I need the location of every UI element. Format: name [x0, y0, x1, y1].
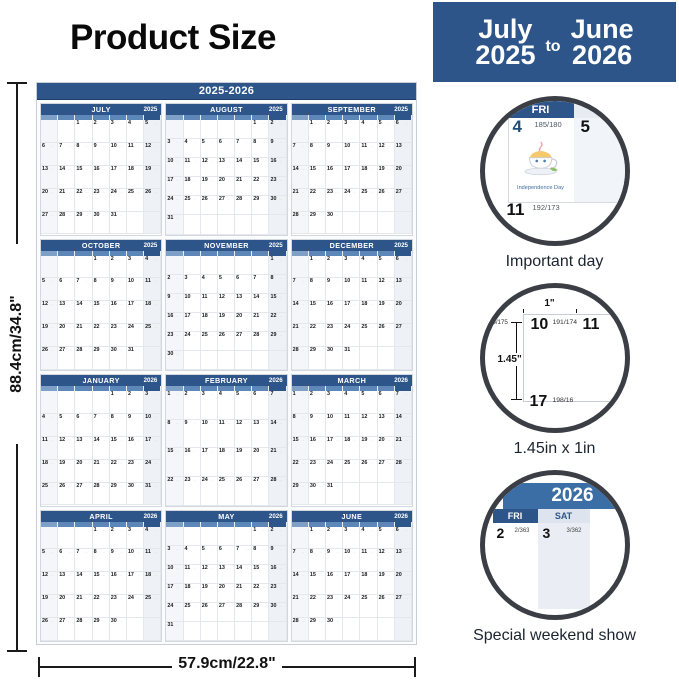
day-cell: 5··· — [378, 256, 395, 279]
julian-count: ··· — [51, 167, 54, 171]
julian-prev: 181 — [480, 120, 488, 129]
day-number: 9 — [94, 143, 97, 149]
day-number: 16 — [327, 572, 333, 578]
saturday-column — [538, 509, 590, 609]
feature-caption-cell-size: 1.45in x 1in — [430, 440, 679, 458]
julian-lower: 198/16 — [553, 397, 574, 404]
julian-count: ··· — [194, 314, 197, 318]
julian-count: ··· — [245, 478, 248, 482]
dow-header-fri: FRI — [508, 101, 574, 118]
day-number: 22 — [253, 584, 259, 590]
julian-count: ··· — [120, 348, 123, 352]
day-cell: 12··· — [41, 572, 58, 595]
day-cell: 28··· — [58, 212, 75, 235]
day-cell: 12··· — [201, 565, 218, 584]
day-number: 20 — [59, 324, 65, 330]
day-number: 14 — [76, 572, 82, 578]
julian-count: ··· — [353, 438, 356, 442]
day-number: 23 — [327, 595, 333, 601]
day-cell: 26··· — [360, 460, 377, 483]
edge-column — [590, 509, 620, 609]
julian-count: ··· — [336, 257, 339, 261]
day-number: 11 — [361, 549, 367, 555]
day-number: 29 — [253, 196, 259, 202]
day-cell: 20··· — [218, 177, 235, 196]
day-cell: 9··· — [269, 546, 286, 565]
month-year: 2026 — [394, 377, 408, 384]
day-number: 27 — [379, 460, 385, 466]
day-cell: 25··· — [184, 603, 201, 622]
day-number: 13 — [76, 437, 82, 443]
day-number: 29 — [76, 212, 82, 218]
julian-count: ··· — [176, 392, 179, 396]
julian-friday: 2/363 — [515, 528, 530, 534]
day-cell: 25··· — [201, 332, 218, 351]
julian-count: ··· — [262, 178, 265, 182]
day-cell: 12··· — [218, 294, 235, 313]
day-cell: 1··· — [269, 256, 286, 275]
day-number: 21 — [76, 595, 82, 601]
julian-count: ··· — [85, 348, 88, 352]
julian-count: ··· — [245, 585, 248, 589]
day-number: 30 — [310, 483, 316, 489]
day-cell: 3··· — [184, 275, 201, 294]
day-number: 6 — [219, 546, 222, 552]
julian-count: ··· — [228, 295, 231, 299]
julian-count: ··· — [245, 449, 248, 453]
julian-count: ··· — [279, 547, 282, 551]
day-cell: 3··· — [166, 546, 183, 565]
day-cell: 21··· — [235, 584, 252, 603]
day-cell: 27··· — [395, 189, 412, 212]
day-cell: 10··· — [127, 278, 144, 301]
day-cell — [343, 212, 360, 235]
day-number: 26 — [361, 460, 367, 466]
day-number: 4 — [202, 275, 205, 281]
day-cell — [58, 256, 75, 279]
day-number: 9 — [270, 546, 273, 552]
day-cell: 24··· — [144, 460, 161, 483]
day-number: 29 — [310, 347, 316, 353]
day-number: 24 — [145, 460, 151, 466]
day-cell: 8··· — [75, 143, 92, 166]
day-number: 21 — [94, 460, 100, 466]
day-cell: 12··· — [378, 143, 395, 166]
day-cell — [218, 215, 235, 234]
magnifier-circle-important-day: FRI 181 4 185/180 5 Independence Day 11 — [480, 96, 630, 246]
julian-count: ··· — [302, 348, 305, 352]
julian-count: ··· — [154, 257, 157, 261]
month-block: DECEMBER20251···2···3···4···5···6···7···… — [291, 239, 413, 372]
julian-count: ··· — [103, 550, 106, 554]
day-number: 25 — [185, 603, 191, 609]
julian-count: ··· — [51, 573, 54, 577]
width-label-text: 57.9cm/22.8" — [172, 655, 281, 672]
day-number: 3 — [344, 120, 347, 126]
month-year: 2026 — [144, 513, 158, 520]
day-number: 30 — [327, 347, 333, 353]
julian-count: ··· — [302, 415, 305, 419]
julian-count: ··· — [120, 438, 123, 442]
julian-count: ··· — [120, 528, 123, 532]
julian-count: ··· — [405, 325, 408, 329]
julian-count: ··· — [120, 121, 123, 125]
julian-count: ··· — [51, 550, 54, 554]
julian-count: ··· — [279, 159, 282, 163]
julian-count: ··· — [85, 461, 88, 465]
day-cell: 31··· — [326, 483, 343, 506]
day-cell: 13··· — [378, 414, 395, 437]
day-number: 5 — [219, 275, 222, 281]
day-number: 31 — [111, 212, 117, 218]
day-cell: 10··· — [166, 565, 183, 584]
day-number: 18 — [219, 448, 225, 454]
day-number: 18 — [185, 584, 191, 590]
day-number: 14 — [236, 565, 242, 571]
day-cell: 2··· — [93, 120, 110, 143]
julian-count: ··· — [336, 167, 339, 171]
julian-count: ··· — [353, 348, 356, 352]
day-grid: 1···2···3···4···5···6···7···8···9···10··… — [41, 527, 161, 642]
day-number: 11 — [219, 420, 225, 426]
julian-count: ··· — [245, 276, 248, 280]
day-cell: 2··· — [309, 391, 326, 414]
day-cell — [395, 483, 412, 506]
day-number: 5 — [42, 549, 45, 555]
day-number: 11 — [185, 158, 191, 164]
month-header: JUNE2026 — [292, 511, 412, 522]
julian-count: ··· — [388, 190, 391, 194]
day-cell: 3··· — [127, 527, 144, 550]
day-cell: 4··· — [184, 139, 201, 158]
day-number: 23 — [310, 460, 316, 466]
day-cell — [235, 351, 252, 370]
day-number: 2 — [327, 120, 330, 126]
day-number-friday: 2 — [497, 525, 505, 541]
julian-count: ··· — [388, 121, 391, 125]
day-number: 5 — [202, 546, 205, 552]
day-cell: 29··· — [75, 212, 92, 235]
day-number: 30 — [167, 351, 173, 357]
day-number: 2 — [327, 527, 330, 533]
julian-count: ··· — [336, 461, 339, 465]
day-cell — [144, 618, 161, 641]
day-grid: 1···2···3···4···5···6···7···8···9···10··… — [292, 120, 412, 235]
day-cell: 26··· — [201, 196, 218, 215]
julian-count: ··· — [302, 596, 305, 600]
day-number: 9 — [270, 139, 273, 145]
julian-count: ··· — [68, 144, 71, 148]
julian-count: ··· — [120, 619, 123, 623]
julian-count: ··· — [137, 550, 140, 554]
julian-count: ··· — [228, 449, 231, 453]
day-cell: 2··· — [326, 256, 343, 279]
day-cell: 18··· — [343, 437, 360, 460]
julian-count: ··· — [353, 144, 356, 148]
day-cell: 22··· — [75, 189, 92, 212]
day-cell: 5··· — [41, 278, 58, 301]
day-number: 30 — [270, 603, 276, 609]
day-cell: 9··· — [166, 294, 183, 313]
day-number: 9 — [167, 294, 170, 300]
day-grid: 1···2···3···4···5···6···7···8···9···10··… — [41, 120, 161, 235]
day-cell: 23··· — [326, 189, 343, 212]
julian-count: ··· — [194, 197, 197, 201]
day-cell — [292, 256, 309, 279]
day-number: 4 — [361, 256, 364, 262]
julian-count: ··· — [85, 484, 88, 488]
julian-count: ··· — [228, 314, 231, 318]
day-number-main: 4 — [513, 117, 522, 137]
julian-count: ··· — [228, 140, 231, 144]
day-grid: 1···2···3···4···5···6···7···8···9···10··… — [292, 527, 412, 642]
day-number: 8 — [111, 414, 114, 420]
julian-count: ··· — [85, 550, 88, 554]
day-cell: 9··· — [184, 420, 201, 449]
day-cell: 7··· — [75, 278, 92, 301]
day-cell: 20··· — [395, 301, 412, 324]
julian-count: ··· — [211, 604, 214, 608]
day-number: 15 — [94, 301, 100, 307]
day-number: 14 — [236, 158, 242, 164]
julian-count: ··· — [154, 144, 157, 148]
day-cell: 1··· — [309, 120, 326, 143]
day-number: 9 — [327, 278, 330, 284]
day-number: 25 — [361, 189, 367, 195]
day-cell: 7··· — [235, 139, 252, 158]
day-number: 5 — [379, 120, 382, 126]
day-cell: 17··· — [184, 313, 201, 332]
day-number-main: 10 — [531, 316, 549, 334]
day-cell: 20··· — [395, 572, 412, 595]
day-cell — [218, 256, 235, 275]
day-cell — [41, 391, 58, 414]
day-number: 13 — [59, 301, 65, 307]
julian-count: ··· — [336, 550, 339, 554]
day-cell: 28··· — [235, 196, 252, 215]
day-number: 9 — [185, 420, 188, 426]
day-cell — [292, 527, 309, 550]
day-number: 7 — [293, 549, 296, 555]
day-number: 14 — [293, 166, 299, 172]
day-cell: 20··· — [252, 448, 269, 477]
day-cell: 15··· — [292, 437, 309, 460]
day-cell: 5··· — [360, 391, 377, 414]
day-cell: 6··· — [218, 139, 235, 158]
day-number: 7 — [293, 143, 296, 149]
day-cell: 18··· — [360, 301, 377, 324]
day-cell: 19··· — [378, 166, 395, 189]
julian-count: ··· — [262, 585, 265, 589]
julian-count: ··· — [154, 325, 157, 329]
julian-count: ··· — [262, 421, 265, 425]
day-number: 26 — [379, 595, 385, 601]
day-number: 5 — [379, 256, 382, 262]
day-cell: 8··· — [110, 414, 127, 437]
julian-count: ··· — [68, 596, 71, 600]
day-cell: 19··· — [41, 324, 58, 347]
day-number: 31 — [145, 483, 151, 489]
day-cell — [269, 622, 286, 641]
julian-count: ··· — [154, 167, 157, 171]
day-cell: 3··· — [144, 391, 161, 414]
julian-count: ··· — [319, 550, 322, 554]
day-cell: 27··· — [218, 196, 235, 215]
day-cell — [184, 527, 201, 546]
julian-count: ··· — [370, 190, 373, 194]
julian-count: ··· — [120, 484, 123, 488]
julian-count: ··· — [137, 438, 140, 442]
day-cell: 14··· — [292, 572, 309, 595]
day-number: 15 — [310, 572, 316, 578]
day-cell: 8··· — [252, 546, 269, 565]
day-number: 18 — [145, 301, 151, 307]
day-number: 20 — [59, 595, 65, 601]
day-cell: 25··· — [127, 189, 144, 212]
julian-count: ··· — [302, 550, 305, 554]
day-number: 19 — [379, 166, 385, 172]
day-cell: 23··· — [127, 460, 144, 483]
day-cell: 26··· — [201, 603, 218, 622]
day-number: 21 — [293, 595, 299, 601]
day-cell: 15··· — [166, 448, 183, 477]
features-panel: July 2025 to June 2026 FRI 181 4 185/180… — [430, 0, 679, 686]
day-cell: 22··· — [166, 477, 183, 506]
day-cell: 6··· — [41, 143, 58, 166]
julian-count: ··· — [103, 302, 106, 306]
julian-count: ··· — [319, 415, 322, 419]
day-cell: 23··· — [184, 477, 201, 506]
day-cell: 31··· — [343, 347, 360, 370]
day-number: 28 — [270, 477, 276, 483]
day-cell: 11··· — [218, 420, 235, 449]
julian-count: ··· — [176, 623, 179, 627]
julian-count: ··· — [137, 279, 140, 283]
day-number: 9 — [327, 549, 330, 555]
magnifier-circle-special-weekend: 2026 FRI SAT 2 2/363 3 3/362 — [480, 470, 630, 620]
day-number: 11 — [145, 549, 151, 555]
julian-count: ··· — [154, 438, 157, 442]
julian-count: ··· — [279, 392, 282, 396]
months-grid: JULY20251···2···3···4···5···6···7···8···… — [37, 100, 416, 645]
julian-count: ··· — [85, 415, 88, 419]
julian-count: ··· — [103, 484, 106, 488]
julian-count: ··· — [194, 604, 197, 608]
julian-main: 191/174 — [553, 319, 578, 326]
julian-count: ··· — [245, 421, 248, 425]
julian-count: ··· — [228, 585, 231, 589]
day-cell: 24··· — [127, 324, 144, 347]
day-number: 11 — [344, 414, 350, 420]
day-number: 16 — [327, 166, 333, 172]
day-number: 20 — [396, 301, 402, 307]
julian-count: ··· — [319, 392, 322, 396]
day-number: 15 — [253, 565, 259, 571]
day-cell: 17··· — [326, 437, 343, 460]
day-cell — [360, 347, 377, 370]
julian-count: ··· — [137, 484, 140, 488]
day-number: 17 — [344, 301, 350, 307]
julian-count: ··· — [137, 415, 140, 419]
day-number: 13 — [59, 572, 65, 578]
day-cell — [58, 120, 75, 143]
day-cell: 25··· — [360, 324, 377, 347]
day-number: 4 — [361, 527, 364, 533]
julian-count: ··· — [211, 421, 214, 425]
julian-count: ··· — [51, 302, 54, 306]
day-cell: 12··· — [41, 301, 58, 324]
day-number: 7 — [236, 139, 239, 145]
julian-count: ··· — [120, 144, 123, 148]
month-header: SEPTEMBER2025 — [292, 104, 412, 115]
day-number: 10 — [344, 278, 350, 284]
day-cell: 25··· — [144, 595, 161, 618]
julian-count: ··· — [176, 566, 179, 570]
julian-count: ··· — [353, 121, 356, 125]
day-number: 25 — [128, 189, 134, 195]
day-number: 1 — [167, 391, 170, 397]
julian-count: ··· — [120, 167, 123, 171]
julian-count: ··· — [370, 167, 373, 171]
julian-count: ··· — [245, 604, 248, 608]
day-cell: 9··· — [326, 549, 343, 572]
month-block: MARCH20261···2···3···4···5···6···7···8··… — [291, 374, 413, 507]
julian-count: ··· — [370, 596, 373, 600]
day-cell: 18··· — [184, 584, 201, 603]
month-block: JANUARY20261···2···3···4···5···6···7···8… — [40, 374, 162, 507]
julian-count: ··· — [228, 478, 231, 482]
day-cell: 25··· — [41, 483, 58, 506]
julian-count: ··· — [176, 140, 179, 144]
day-cell: 23··· — [326, 324, 343, 347]
day-cell — [127, 618, 144, 641]
julian-count: ··· — [262, 478, 265, 482]
day-cell: 7··· — [292, 278, 309, 301]
day-number: 1 — [270, 256, 273, 262]
day-number: 29 — [94, 618, 100, 624]
julian-count: ··· — [103, 528, 106, 532]
day-number: 24 — [185, 332, 191, 338]
day-cell: 6··· — [395, 256, 412, 279]
day-number: 8 — [293, 414, 296, 420]
day-number: 26 — [202, 196, 208, 202]
julian-count: ··· — [319, 302, 322, 306]
julian-count: ··· — [137, 190, 140, 194]
julian-count: ··· — [211, 197, 214, 201]
day-cell: 6··· — [395, 527, 412, 550]
day-cell: 8··· — [309, 549, 326, 572]
day-cell — [378, 212, 395, 235]
day-number: 26 — [379, 189, 385, 195]
day-cell: 29··· — [93, 618, 110, 641]
feature-caption-important-day: Important day — [430, 253, 679, 271]
day-number: 1 — [94, 256, 97, 262]
day-cell: 15··· — [252, 158, 269, 177]
day-cell: 6··· — [378, 391, 395, 414]
julian-count: ··· — [353, 190, 356, 194]
julian-count: ··· — [103, 619, 106, 623]
day-cell — [269, 351, 286, 370]
month-year: 2026 — [144, 377, 158, 384]
day-cell: 4··· — [41, 414, 58, 437]
day-number: 18 — [42, 460, 48, 466]
day-number: 10 — [202, 420, 208, 426]
day-number: 30 — [327, 212, 333, 218]
day-cell: 21··· — [235, 177, 252, 196]
day-cell: 17··· — [343, 166, 360, 189]
day-cell: 20··· — [41, 189, 58, 212]
day-cell: 4··· — [127, 120, 144, 143]
